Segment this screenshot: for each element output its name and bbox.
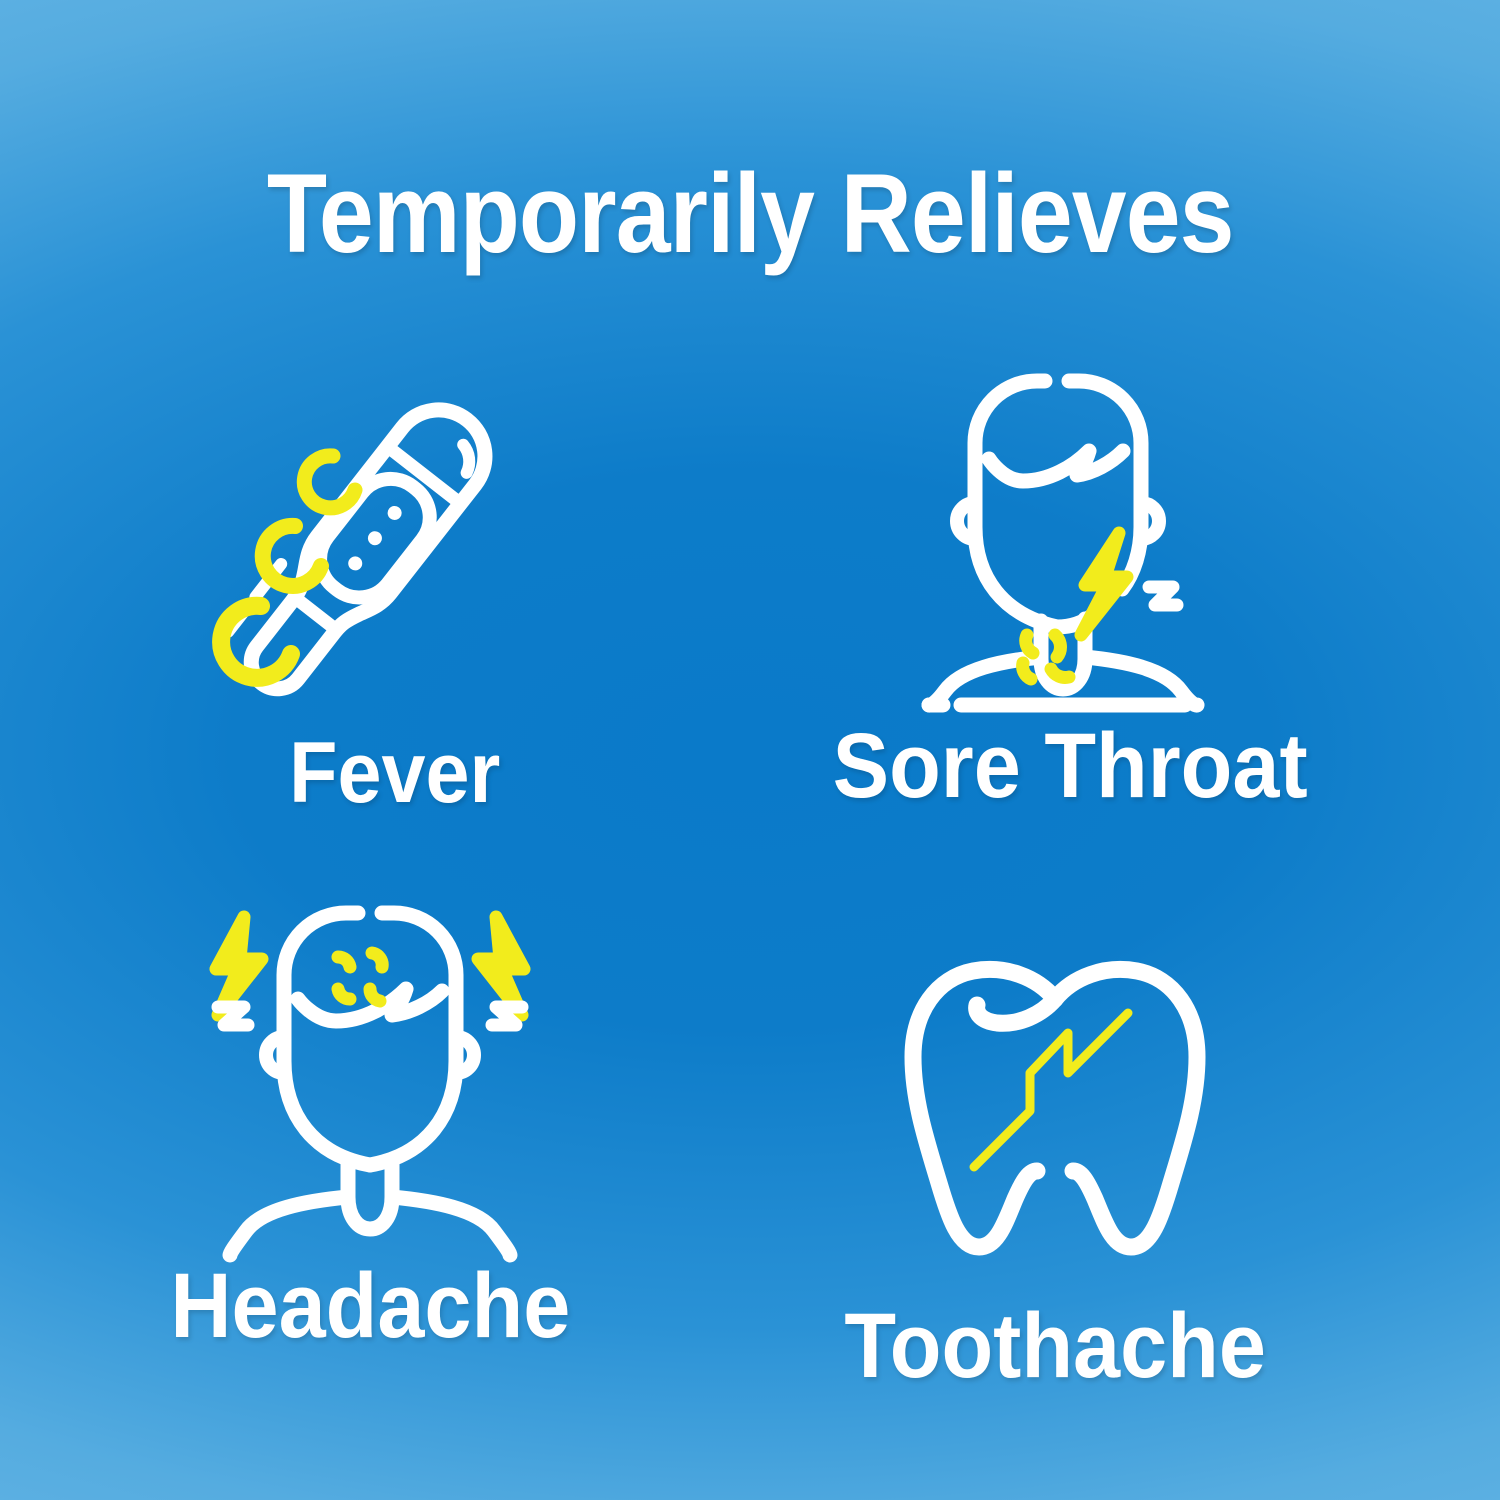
symptom-label-sore-throat: Sore Throat: [832, 720, 1307, 812]
poster-canvas: Temporarily Relieves: [0, 0, 1500, 1500]
symptom-grid: Fever: [0, 360, 1500, 1500]
page-title-container: Temporarily Relieves: [0, 158, 1500, 270]
headache-person-icon: [190, 900, 550, 1250]
sore-throat-person-icon: [890, 360, 1250, 710]
symptom-card-sore-throat: Sore Throat: [720, 360, 1420, 920]
symptom-card-headache: Headache: [20, 900, 720, 1460]
symptom-card-toothache: Toothache: [705, 940, 1405, 1500]
page-title: Temporarily Relieves: [267, 158, 1234, 270]
symptom-label-headache: Headache: [170, 1260, 570, 1352]
symptom-card-fever: Fever: [45, 370, 745, 930]
tooth-icon: [875, 940, 1235, 1290]
thermometer-icon: [215, 370, 575, 720]
symptom-label-fever: Fever: [289, 730, 500, 816]
symptom-label-toothache: Toothache: [844, 1300, 1266, 1392]
